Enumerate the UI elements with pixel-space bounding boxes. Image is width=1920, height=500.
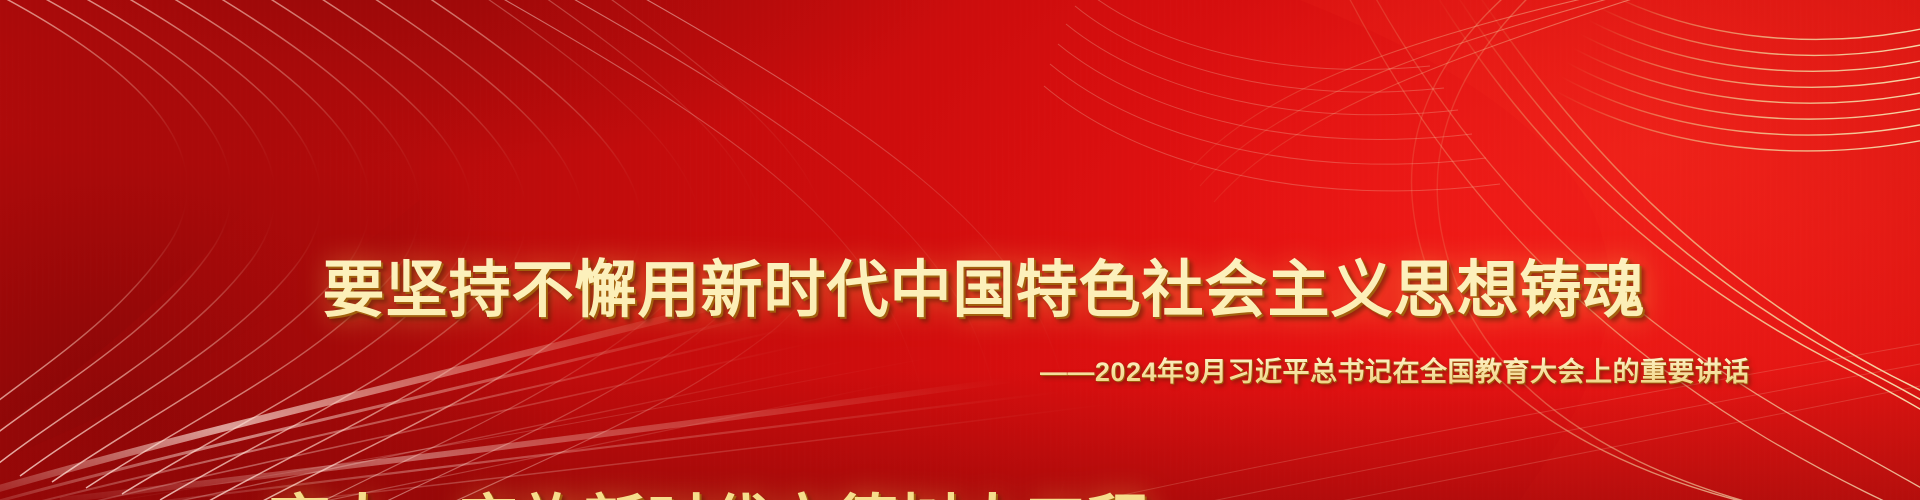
headline-line-1: 要坚持不懈用新时代中国特色社会主义思想铸魂 <box>0 252 1920 330</box>
banner-content: 要坚持不懈用新时代中国特色社会主义思想铸魂 育人，实施新时代立德树人工程。 ——… <box>0 0 1920 500</box>
headline-line-2: 育人，实施新时代立德树人工程。 <box>0 486 1920 500</box>
attribution-text: ——2024年9月习近平总书记在全国教育大会上的重要讲话 <box>1040 352 1750 392</box>
headline-text: 要坚持不懈用新时代中国特色社会主义思想铸魂 育人，实施新时代立德树人工程。 <box>0 96 1920 500</box>
slogan-banner: 要坚持不懈用新时代中国特色社会主义思想铸魂 育人，实施新时代立德树人工程。 ——… <box>0 0 1920 500</box>
